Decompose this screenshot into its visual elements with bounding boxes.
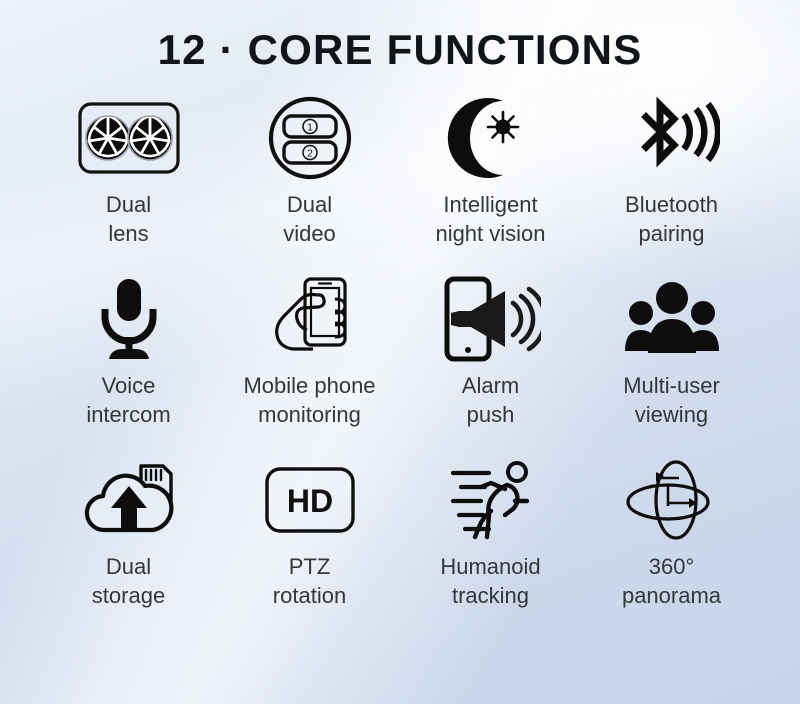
- feature-overview-page: 12 · CORE FUNCTIONS: [0, 0, 800, 704]
- orbit-360-icon: [607, 454, 737, 546]
- night-vision-moon-icon: [426, 92, 556, 184]
- hd-badge-icon: HD: [245, 454, 375, 546]
- feature-item-multi-user: Multi-user viewing: [581, 273, 762, 454]
- feature-label: Voice intercom: [86, 371, 170, 429]
- feature-label: Mobile phone monitoring: [243, 371, 375, 429]
- multi-user-group-icon: [607, 273, 737, 365]
- feature-grid: Dual lens 1 2 Dual video: [38, 74, 762, 635]
- svg-text:HD: HD: [286, 483, 332, 519]
- feature-item-dual-video: 1 2 Dual video: [219, 92, 400, 273]
- bluetooth-icon: [607, 92, 737, 184]
- running-person-icon: [426, 454, 556, 546]
- phone-megaphone-icon: [426, 273, 556, 365]
- feature-label: Alarm push: [462, 371, 519, 429]
- feature-label: Humanoid tracking: [440, 552, 540, 610]
- dual-video-icon: 1 2: [245, 92, 375, 184]
- feature-label: Intelligent night vision: [435, 190, 545, 248]
- feature-item-dual-lens: Dual lens: [38, 92, 219, 273]
- page-title: 12 · CORE FUNCTIONS: [0, 0, 800, 74]
- svg-text:2: 2: [307, 149, 313, 160]
- feature-label: PTZ rotation: [273, 552, 346, 610]
- feature-label: Dual lens: [106, 190, 151, 248]
- feature-label: Multi-user viewing: [623, 371, 720, 429]
- dual-lens-icon: [64, 92, 194, 184]
- microphone-icon: [64, 273, 194, 365]
- feature-item-voice-intercom: Voice intercom: [38, 273, 219, 454]
- svg-text:1: 1: [307, 123, 313, 134]
- feature-item-dual-storage: Dual storage: [38, 454, 219, 635]
- feature-label: Dual storage: [92, 552, 165, 610]
- feature-item-mobile-monitoring: Mobile phone monitoring: [219, 273, 400, 454]
- feature-item-ptz-rotation: HD PTZ rotation: [219, 454, 400, 635]
- feature-item-bluetooth: Bluetooth pairing: [581, 92, 762, 273]
- feature-item-alarm-push: Alarm push: [400, 273, 581, 454]
- feature-item-humanoid-tracking: Humanoid tracking: [400, 454, 581, 635]
- feature-item-night-vision: Intelligent night vision: [400, 92, 581, 273]
- feature-label: Bluetooth pairing: [625, 190, 718, 248]
- hand-holding-phone-icon: [245, 273, 375, 365]
- feature-label: 360° panorama: [622, 552, 721, 610]
- feature-item-360-panorama: 360° panorama: [581, 454, 762, 635]
- cloud-sd-card-icon: [64, 454, 194, 546]
- feature-label: Dual video: [283, 190, 336, 248]
